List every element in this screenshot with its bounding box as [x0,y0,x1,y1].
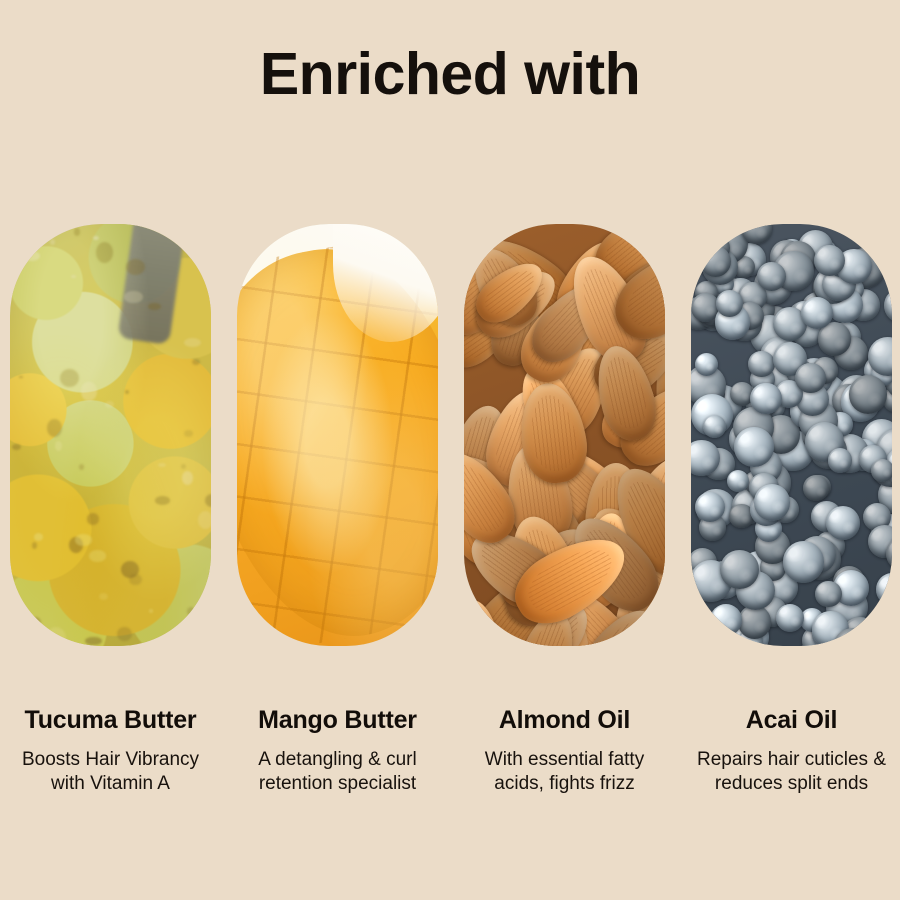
acai-berry [876,573,892,606]
fruit-blemish [117,627,132,641]
fruit-blemish [50,239,55,246]
acai-berry [727,470,749,492]
fruit-blemish [205,494,211,508]
acai-berries-photo [691,224,892,646]
fruit-blemish [19,376,24,379]
ingredients-infographic: Enriched with Tucuma Butter Boosts Hair … [0,0,900,900]
acai-berry [734,427,774,467]
acai-berry [849,375,887,413]
fruit-blemish [74,228,80,235]
acai-berry [695,353,718,376]
acai-berry [871,459,892,482]
almonds-photo [464,224,665,646]
fruit-blemish [23,251,40,261]
fruit-blemish [192,359,200,365]
fruit-blemish [184,338,201,347]
ingredient-card-tucuma [10,224,211,646]
ingredient-description: Repairs hair cuticles & reduces split en… [691,748,892,797]
caption-tucuma: Tucuma Butter Boosts Hair Vibrancy with … [10,706,211,796]
fruit-blemish [184,430,193,438]
caption-acai: Acai Oil Repairs hair cuticles & reduces… [691,706,892,796]
page-title: Enriched with [0,44,900,106]
acai-berry [795,363,826,394]
fruit-blemish [30,617,41,628]
ingredient-name: Mango Butter [237,706,438,736]
acai-berry [757,262,786,291]
ingredient-card-almond [464,224,665,646]
fruit-blemish [124,291,142,303]
ingredient-image-row [10,224,890,646]
fruit-blemish [12,444,21,450]
caption-mango: Mango Butter A detangling & curl retenti… [237,706,438,796]
acai-berry [783,541,824,582]
acai-berry [703,415,727,439]
fruit-blemish [87,513,100,525]
acai-berry [814,245,845,276]
ingredient-name: Almond Oil [464,706,665,736]
fruit-blemish [93,236,99,240]
fruit-blemish [55,441,63,451]
fruit-blemish [34,533,44,541]
fruit-blemish [181,464,186,469]
acai-berry [738,605,771,638]
fruit-blemish [147,641,158,646]
fruit-blemish [155,496,171,505]
acai-berry [884,288,892,324]
fruit-blemish [75,534,92,545]
acai-berry [700,246,731,277]
fruit-blemish [187,607,195,616]
acai-berry [801,297,833,329]
ingredient-card-mango [237,224,438,646]
fruit-blemish [148,303,160,310]
fruit-blemish [47,419,61,437]
fruit-blemish [125,390,129,394]
ingredient-name: Acai Oil [691,706,892,736]
fruit-blemish [121,561,139,578]
tucuma-fruit-photo [10,224,211,646]
acai-berry [754,484,790,520]
fruit-blemish [69,537,82,553]
fruit-blemish [79,464,84,470]
acai-berry [776,604,804,632]
acai-berry [815,581,842,608]
fruit-blemish [96,242,113,263]
fruit-blemish [99,593,108,600]
caption-almond: Almond Oil With essential fatty acids, f… [464,706,665,796]
fruit-blemish [81,382,96,401]
diced-mango-photo [237,224,438,646]
ingredient-description: With essential fatty acids, fights frizz [464,748,665,797]
ingredient-card-acai [691,224,892,646]
fruit-blemish [89,550,106,562]
fruit-blemish [60,369,79,387]
fruit-blemish [46,627,66,646]
acai-berry [720,550,758,588]
ingredient-name: Tucuma Butter [10,706,211,736]
fruit-blemish [158,463,166,467]
fruit-blemish [198,511,211,529]
ingredient-caption-row: Tucuma Butter Boosts Hair Vibrancy with … [10,706,890,796]
acai-berry [828,448,852,472]
acai-berry [826,506,860,540]
acai-berry [803,475,829,501]
fruit-blemish [105,401,114,408]
fruit-blemish [126,259,145,275]
fruit-blemish [129,574,141,586]
fruit-blemish [182,471,193,485]
fruit-blemish [32,542,38,549]
fruit-blemish [85,637,102,646]
acai-berry [710,604,742,636]
acai-berry [716,290,743,317]
fruit-blemish [71,275,76,278]
acai-berry [750,383,781,414]
ingredient-description: A detangling & curl retention specialist [237,748,438,797]
fruit-blemish [190,228,206,237]
fruit-blemish [149,609,154,613]
ingredient-description: Boosts Hair Vibrancy with Vitamin A [10,748,211,797]
fruit-blemish [210,570,211,581]
